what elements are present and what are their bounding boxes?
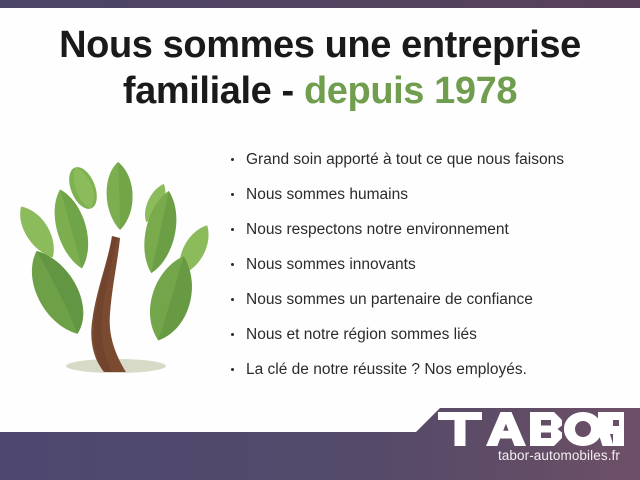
bullet-icon [231, 158, 234, 161]
bullet-icon [231, 193, 234, 196]
page-title: Nous sommes une entreprise familiale - d… [0, 22, 640, 114]
list-item-label: Nous sommes innovants [246, 256, 416, 273]
bullet-icon [231, 298, 234, 301]
list-item-label: La clé de notre réussite ? Nos employés. [246, 361, 527, 378]
headline-accent: depuis 1978 [304, 70, 517, 112]
list-item: Nous respectons notre environnement [228, 220, 628, 239]
headline-dash: - [282, 70, 294, 112]
bullet-icon [231, 368, 234, 371]
top-accent-bar [0, 0, 640, 8]
brand-tagline: tabor-automobiles.fr [434, 448, 624, 463]
list-item-label: Nous sommes un partenaire de confiance [246, 291, 533, 308]
benefits-list: Grand soin apporté à tout ce que nous fa… [228, 150, 628, 395]
list-item-label: Nous respectons notre environnement [246, 221, 509, 238]
bullet-icon [231, 333, 234, 336]
footer-bar: tabor-automobiles.fr [0, 400, 640, 480]
bullet-icon [231, 228, 234, 231]
list-item: Nous sommes humains [228, 185, 628, 204]
list-item-label: Nous et notre région sommes liés [246, 326, 477, 343]
tabor-wordmark-icon [438, 412, 624, 446]
list-item: La clé de notre réussite ? Nos employés. [228, 360, 628, 379]
list-item: Grand soin apporté à tout ce que nous fa… [228, 150, 628, 169]
list-item: Nous sommes innovants [228, 255, 628, 274]
headline-line-2: familiale - depuis 1978 [0, 68, 640, 114]
list-item: Nous sommes un partenaire de confiance [228, 290, 628, 309]
headline-line-1: Nous sommes une entreprise [0, 22, 640, 68]
tree-illustration [8, 150, 223, 385]
brand-logo[interactable]: tabor-automobiles.fr [434, 412, 624, 463]
list-item-label: Nous sommes humains [246, 186, 408, 203]
list-item: Nous et notre région sommes liés [228, 325, 628, 344]
bullet-icon [231, 263, 234, 266]
list-item-label: Grand soin apporté à tout ce que nous fa… [246, 151, 564, 168]
headline-prefix: familiale [123, 70, 271, 112]
tree-logo-icon [8, 150, 223, 385]
slide-canvas: Nous sommes une entreprise familiale - d… [0, 0, 640, 480]
